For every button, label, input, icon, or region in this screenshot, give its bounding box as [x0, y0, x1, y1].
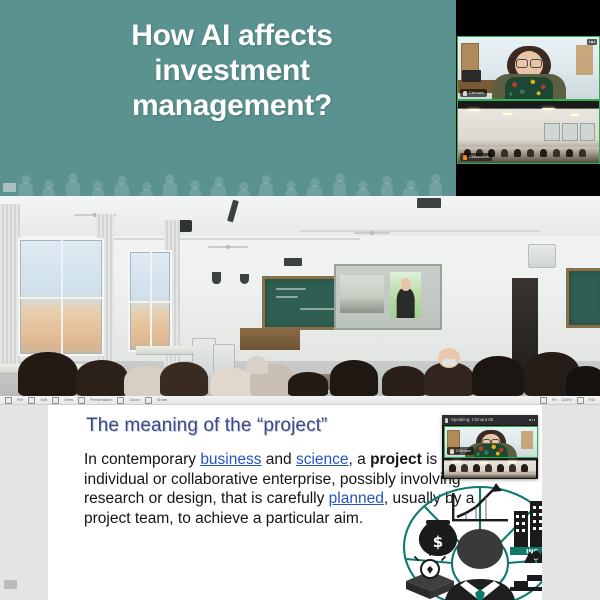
- ceiling-light: [502, 113, 512, 115]
- fit-icon[interactable]: [540, 397, 547, 404]
- window: [18, 238, 104, 356]
- slide-canvas[interactable]: The meaning of the “project” In contempo…: [48, 405, 542, 600]
- ceiling-fan-icon: [208, 246, 248, 248]
- fullscreen-icon[interactable]: [577, 397, 584, 404]
- toolbar-item-full[interactable]: Full: [589, 398, 595, 402]
- slideshow-icon[interactable]: [78, 397, 85, 404]
- desk: [136, 346, 194, 355]
- svg-text:$: $: [433, 533, 443, 551]
- scarf-shape: [474, 444, 508, 457]
- microphone-icon: [450, 449, 454, 454]
- crowd-decoration: [0, 170, 456, 196]
- toolbar-item-zoom-level[interactable]: 100%: [561, 398, 571, 402]
- slide-thumbnail[interactable]: [4, 580, 17, 589]
- toolbar-item-presentation[interactable]: Presentation: [90, 398, 112, 402]
- monitor-shape: [462, 70, 481, 82]
- top-region: How AI affects investment management?: [0, 0, 600, 196]
- right-pane: [541, 405, 600, 600]
- share-icon[interactable]: [145, 397, 152, 404]
- window-shape: [562, 123, 578, 141]
- meeting-screen-share: How AI affects investment management?: [0, 0, 600, 600]
- link-business[interactable]: business: [200, 451, 261, 468]
- magnifier-icon[interactable]: [117, 397, 124, 404]
- link-planned[interactable]: planned: [329, 490, 384, 507]
- floating-video-classroom[interactable]: [444, 458, 536, 478]
- radial-infographic: $: [400, 463, 542, 600]
- wall-panel-shape: [576, 45, 593, 75]
- student-silhouette: [472, 356, 524, 396]
- participant-name-badge: Classroom: [460, 153, 492, 161]
- chalk-mark: [276, 296, 298, 298]
- title-line-3: management?: [20, 88, 444, 123]
- student-silhouette: [382, 366, 426, 396]
- toolbar-item-share[interactable]: Share: [157, 398, 168, 402]
- microphone-icon: [445, 418, 448, 423]
- toolbar-item-file[interactable]: File: [17, 398, 23, 402]
- toolbar-item-edit[interactable]: Edit: [40, 398, 47, 402]
- wall-camera-icon: [212, 272, 221, 284]
- body-seg-0: In contemporary: [84, 451, 200, 468]
- page-title: How AI affects investment management?: [20, 18, 444, 123]
- curtain: [0, 204, 20, 364]
- ellipsis-icon[interactable]: [529, 419, 535, 420]
- toolbar-item-fit[interactable]: Fit: [552, 398, 556, 402]
- projection-screen[interactable]: [334, 264, 442, 330]
- video-tile-classroom[interactable]: Classroom: [457, 100, 600, 164]
- body-seg-4: , a: [349, 451, 371, 468]
- infographic-svg: $: [400, 463, 542, 600]
- chalk-mark: [276, 288, 306, 290]
- title-slide[interactable]: How AI affects investment management?: [0, 0, 456, 196]
- presenter-silhouette: [396, 288, 415, 318]
- office-building-icon: INC: [510, 501, 542, 556]
- eye-icon[interactable]: [52, 397, 59, 404]
- student-silhouette: [566, 366, 600, 396]
- slide-thumbnail-badge: [3, 183, 16, 192]
- podium: [240, 328, 300, 350]
- participant-name: Classroom: [469, 155, 489, 159]
- remote-presenter-feed: [390, 272, 421, 318]
- student-silhouette: [160, 362, 208, 396]
- face-mask-icon: [442, 359, 456, 366]
- floating-video-active-speaker[interactable]: Chinara: [444, 426, 538, 458]
- classroom-photo: [0, 196, 600, 396]
- body-seg-2: and: [262, 451, 296, 468]
- participant-name-badge: Chinara: [460, 89, 487, 97]
- toolbar-item-view[interactable]: View: [64, 398, 73, 402]
- student-silhouette: [76, 360, 128, 396]
- trophy-winner-icon: [510, 551, 542, 591]
- speaker-icon: [284, 258, 302, 266]
- ceiling-light: [570, 114, 579, 116]
- document-viewer: File Edit View Presentation Zoom Share F…: [0, 396, 600, 600]
- floating-video-tile[interactable]: Speaking: Chinara 85 C: [442, 415, 538, 479]
- ceiling-light: [468, 109, 480, 111]
- speaking-status: Speaking: Chinara 85: [451, 418, 493, 422]
- microphone-icon: [463, 91, 467, 96]
- money-bag-icon: $: [419, 520, 457, 556]
- glasses-icon: [516, 59, 542, 66]
- title-line-1: How AI affects: [20, 18, 444, 53]
- wall-camera-icon: [240, 274, 249, 284]
- window-shape: [544, 123, 560, 141]
- toolbar-item-zoom[interactable]: Zoom: [129, 398, 139, 402]
- ceiling-light: [542, 108, 555, 110]
- link-science[interactable]: science: [296, 451, 349, 468]
- window: [128, 250, 172, 352]
- wall-vent: [528, 244, 556, 268]
- student-head: [246, 356, 268, 374]
- microphone-muted-icon: [463, 155, 467, 160]
- classroom-webcam-background: [444, 458, 536, 478]
- student-silhouette: [288, 372, 328, 396]
- slide-title: The meaning of the “project”: [86, 415, 327, 437]
- ellipsis-icon[interactable]: [587, 39, 597, 45]
- viewer-toolbar[interactable]: File Edit View Presentation Zoom Share F…: [0, 396, 600, 405]
- ceiling-fan-icon: [354, 232, 390, 234]
- video-tile-teacher[interactable]: Chinara: [457, 36, 600, 100]
- speaker-icon: [417, 198, 441, 208]
- participant-name: Chinara: [456, 449, 471, 453]
- participant-name: Chinara: [469, 91, 484, 95]
- pencil-icon[interactable]: [28, 397, 35, 404]
- chalkboard-right: [566, 268, 600, 328]
- ceiling-light: [452, 461, 461, 463]
- remote-classroom-feed: [340, 275, 384, 313]
- video-tile-column: Chinara: [456, 0, 600, 196]
- window-shape: [580, 123, 595, 141]
- ceiling-shape: [458, 101, 599, 108]
- thumbnail-pane[interactable]: [0, 405, 49, 600]
- participant-name-badge: Chinara: [447, 447, 474, 455]
- menu-icon[interactable]: [5, 397, 12, 404]
- student-row: [444, 473, 536, 478]
- floating-video-status-bar: Speaking: Chinara 85: [442, 415, 538, 425]
- student-silhouette: [18, 352, 78, 396]
- ceiling-pipe: [300, 230, 540, 232]
- wall-panel-shape: [521, 431, 533, 449]
- ceiling-light: [508, 461, 517, 463]
- student-silhouette: [330, 360, 378, 396]
- title-line-2: investment: [20, 53, 444, 88]
- scarf-shape: [505, 77, 553, 99]
